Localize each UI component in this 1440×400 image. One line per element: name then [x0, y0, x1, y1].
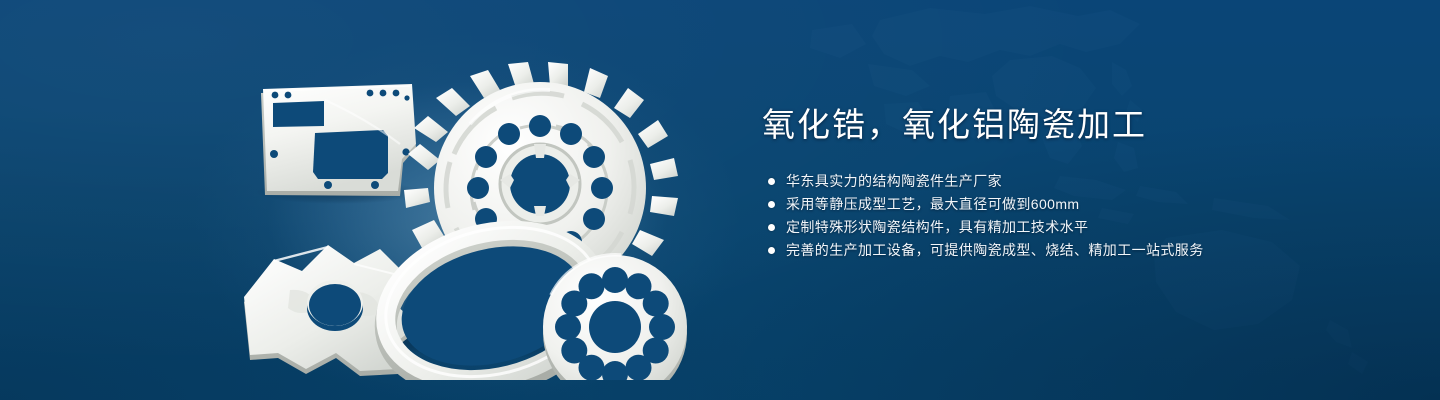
ceramic-flat-plate-part	[261, 84, 416, 196]
list-item: 采用等静压成型工艺，最大直径可做到600mm	[762, 193, 1382, 216]
ceramic-perforated-disc-part	[543, 255, 687, 380]
bullet-dot-icon	[768, 201, 775, 208]
product-image-cluster	[230, 40, 690, 380]
hero-banner: 氧化锆，氧化铝陶瓷加工 华东具实力的结构陶瓷件生产厂家 采用等静压成型工艺，最大…	[0, 0, 1440, 400]
bullet-text: 华东具实力的结构陶瓷件生产厂家	[786, 170, 1002, 193]
banner-headline: 氧化锆，氧化铝陶瓷加工	[762, 104, 1382, 146]
list-item: 华东具实力的结构陶瓷件生产厂家	[762, 170, 1382, 193]
bullet-text: 采用等静压成型工艺，最大直径可做到600mm	[786, 193, 1079, 216]
bullet-text: 定制特殊形状陶瓷结构件，具有精加工技术水平	[786, 216, 1088, 239]
bullet-dot-icon	[768, 224, 775, 231]
feature-bullet-list: 华东具实力的结构陶瓷件生产厂家 采用等静压成型工艺，最大直径可做到600mm 定…	[762, 170, 1382, 262]
list-item: 定制特殊形状陶瓷结构件，具有精加工技术水平	[762, 216, 1382, 239]
banner-copy: 氧化锆，氧化铝陶瓷加工 华东具实力的结构陶瓷件生产厂家 采用等静压成型工艺，最大…	[762, 104, 1382, 262]
list-item: 完善的生产加工设备，可提供陶瓷成型、烧结、精加工一站式服务	[762, 239, 1382, 262]
bullet-text: 完善的生产加工设备，可提供陶瓷成型、烧结、精加工一站式服务	[786, 239, 1204, 262]
bullet-dot-icon	[768, 178, 775, 185]
bullet-dot-icon	[768, 247, 775, 254]
